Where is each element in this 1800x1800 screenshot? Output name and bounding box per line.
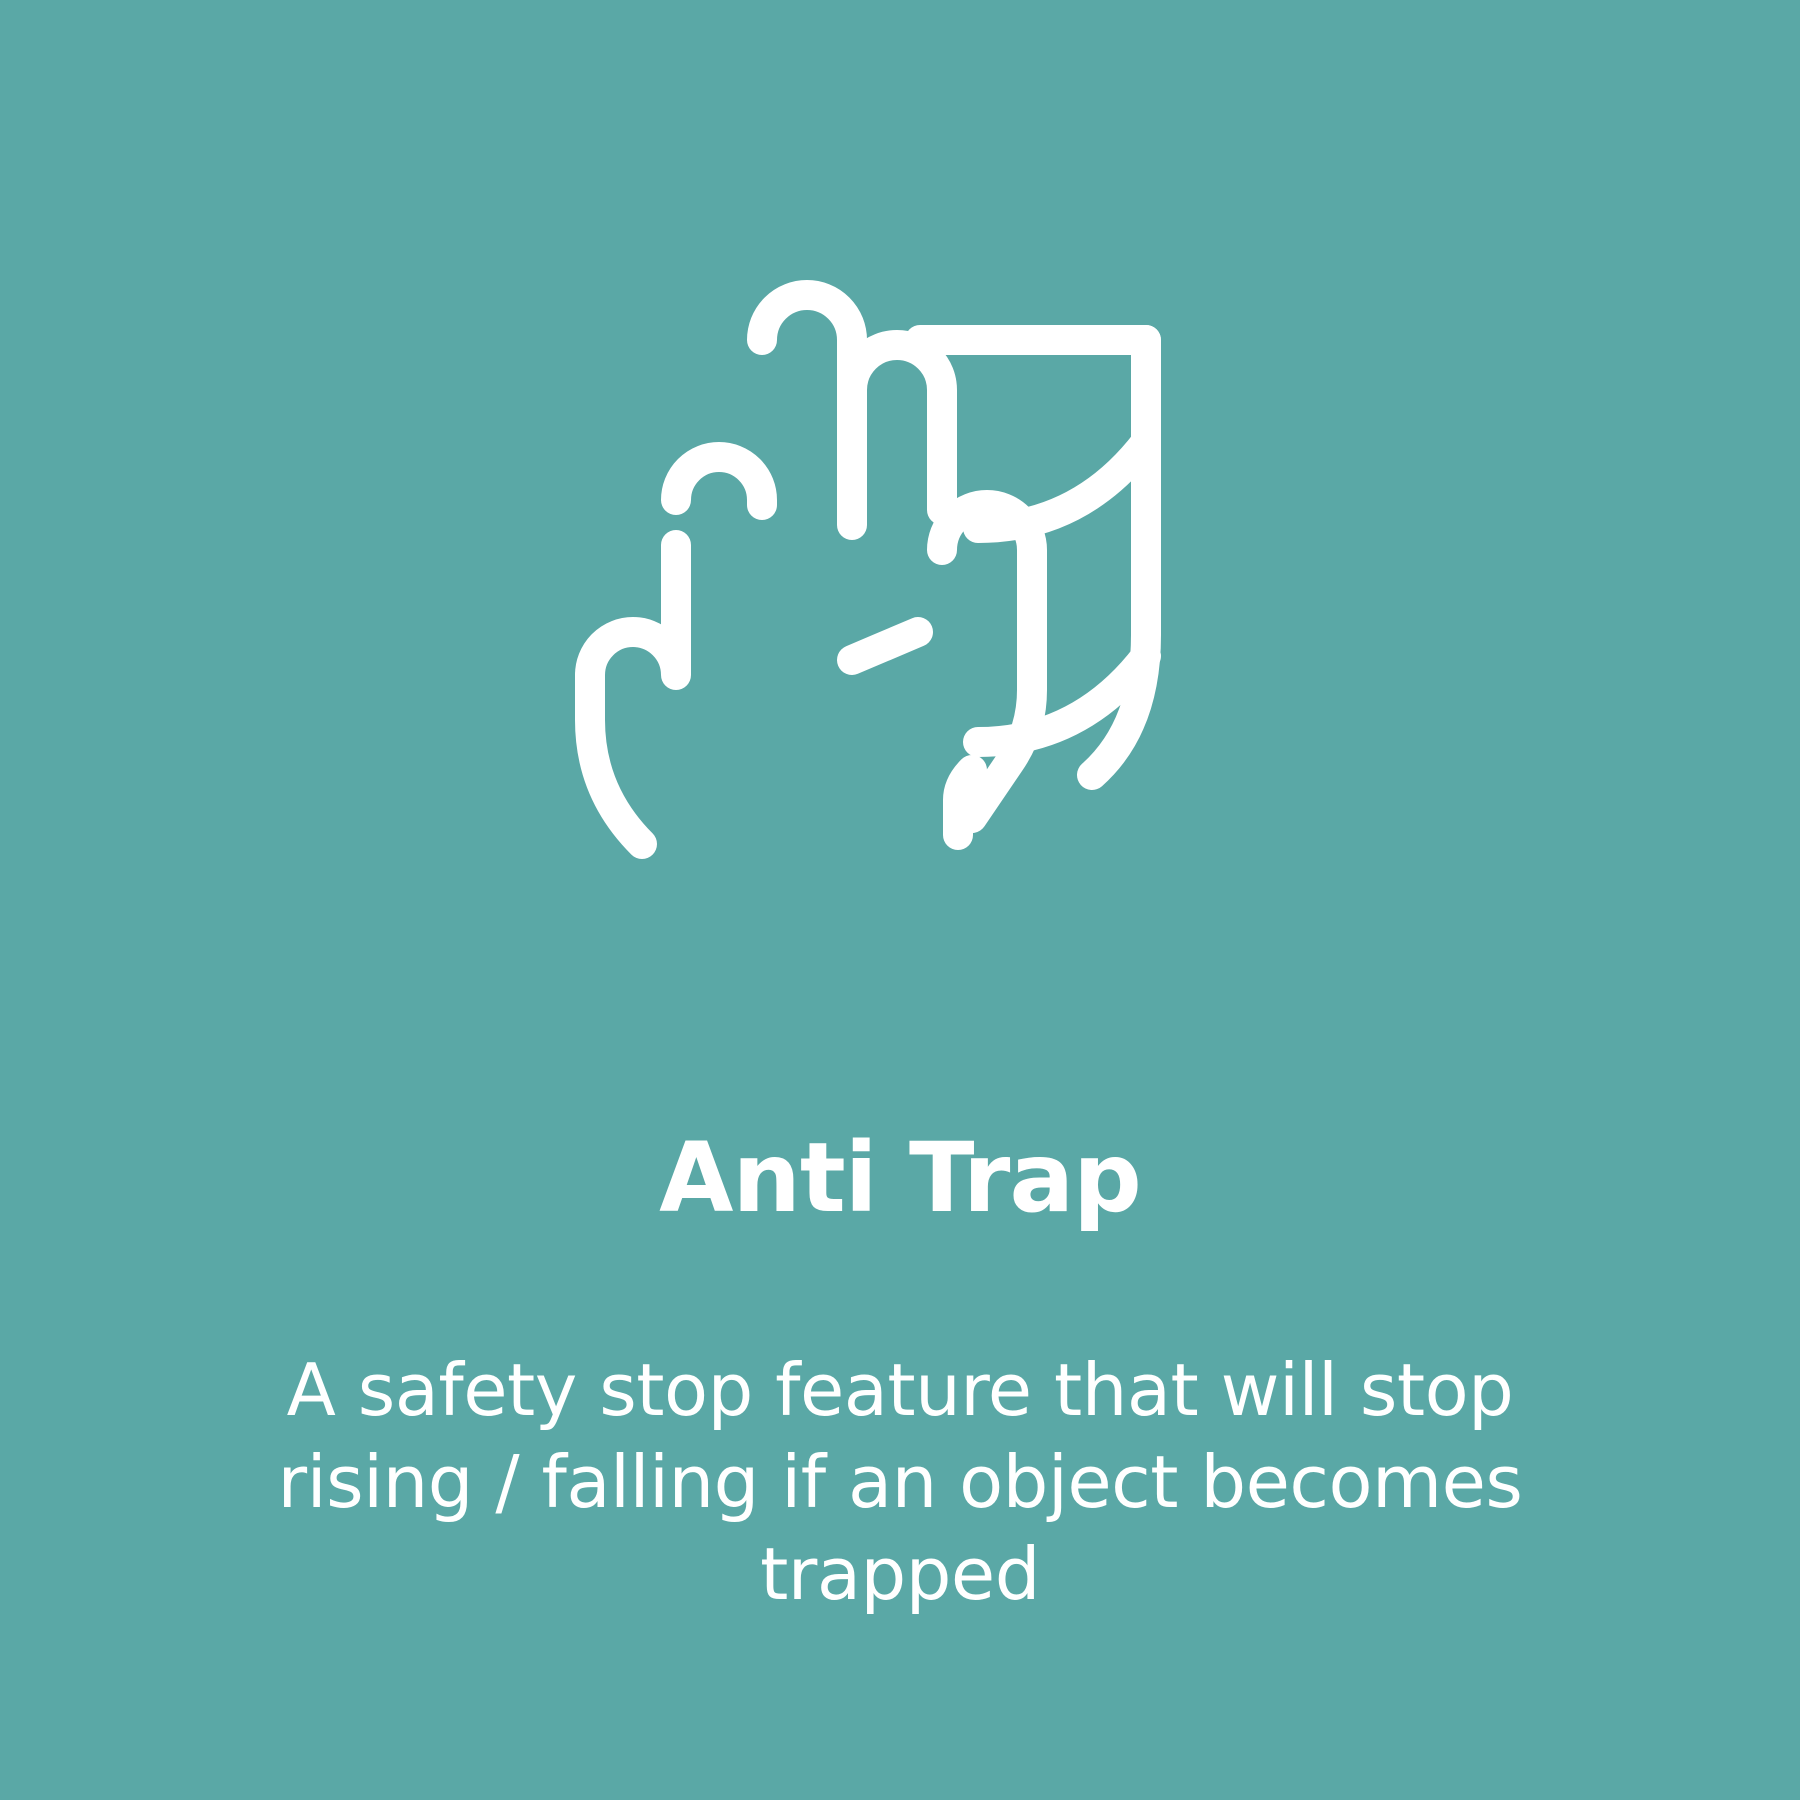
anti-trap-icon-svg [560,250,1240,850]
hand-ring-finger-path [676,457,762,505]
anti-trap-icon [560,250,1240,850]
hand-wrist-stub-path [958,770,972,835]
hand-thumb-crease-path [852,632,918,660]
hand-pinky-path [590,545,676,675]
feature-title: Anti Trap [150,1130,1650,1226]
feature-description: A safety stop feature that will stop ris… [275,1344,1525,1620]
blind-upper-slat-path [978,442,1146,528]
feature-card: Anti Trap A safety stop feature that wil… [0,0,1800,1800]
hand-palm-left-edge-path [590,675,642,844]
feature-text-block: Anti Trap A safety stop feature that wil… [0,1130,1800,1620]
